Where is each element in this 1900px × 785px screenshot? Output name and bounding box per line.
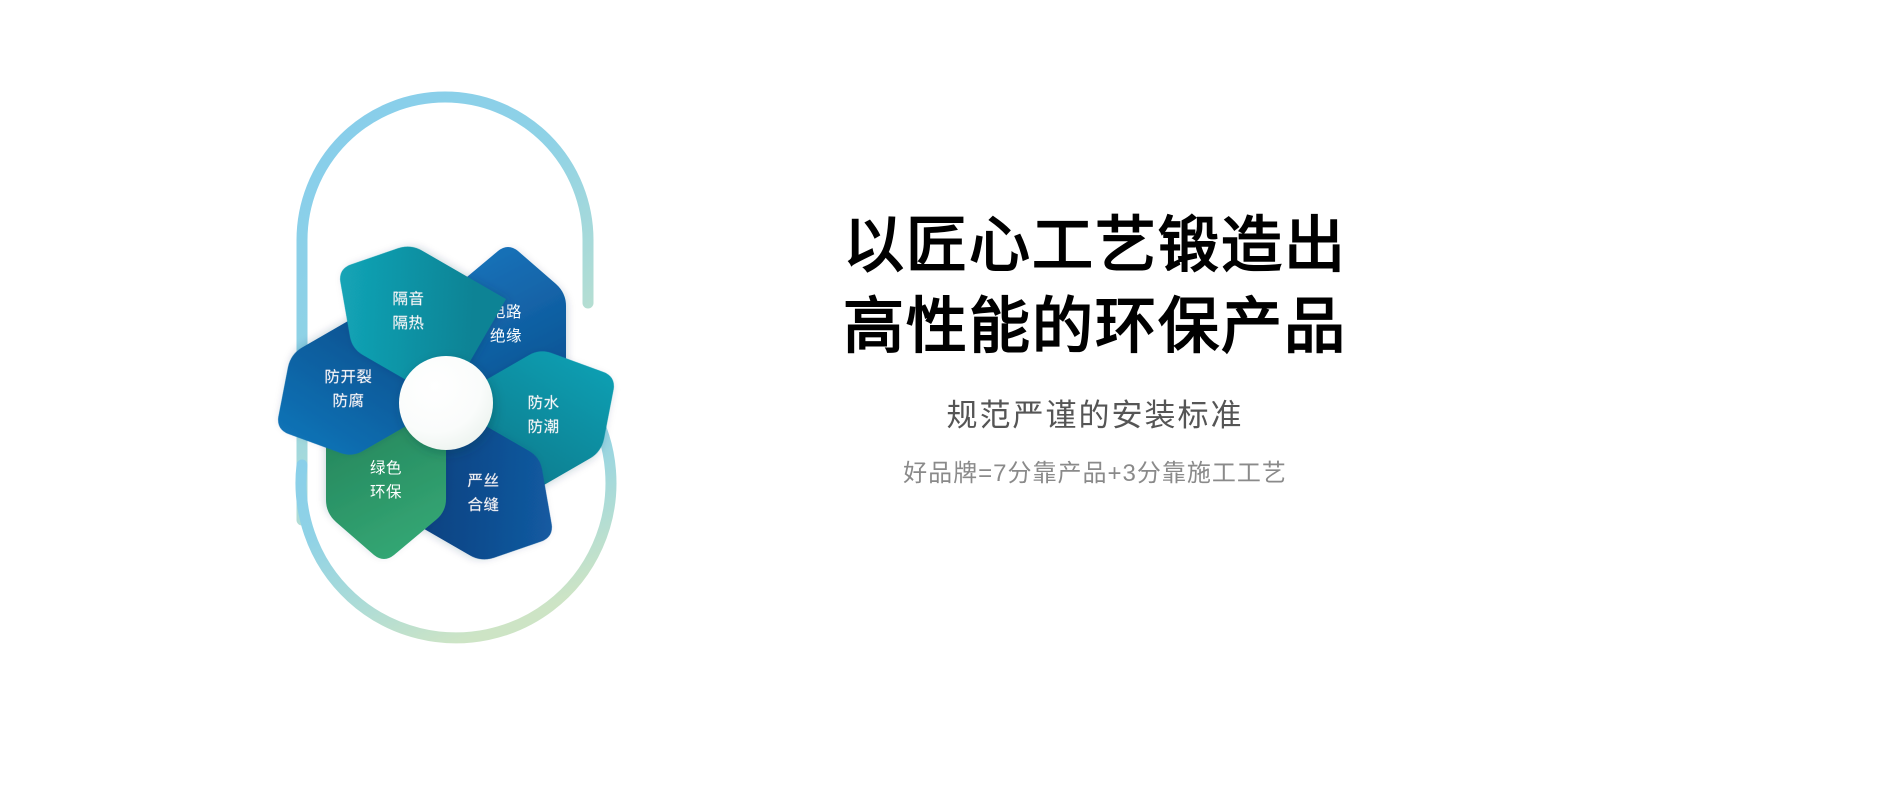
headline-line-2: 高性能的环保产品 bbox=[745, 286, 1445, 367]
petal-label-line1: 防水 bbox=[528, 394, 560, 412]
petal-label-line2: 绝缘 bbox=[490, 327, 522, 345]
petal-label-line1: 隔音 bbox=[392, 290, 424, 308]
copy-block: 以匠心工艺锻造出 高性能的环保产品 规范严谨的安装标准 好品牌=7分靠产品+3分… bbox=[745, 205, 1445, 490]
petal-label-line1: 严丝 bbox=[468, 472, 500, 490]
petal-label-line2: 合缝 bbox=[468, 496, 500, 514]
tagline: 好品牌=7分靠产品+3分靠施工工艺 bbox=[745, 458, 1445, 489]
flower-center-circle bbox=[399, 356, 493, 450]
petal-label-line2: 防潮 bbox=[528, 418, 560, 436]
petal-label-line1: 绿色 bbox=[370, 459, 402, 477]
headline: 以匠心工艺锻造出 高性能的环保产品 bbox=[745, 205, 1445, 366]
headline-line-1: 以匠心工艺锻造出 bbox=[745, 205, 1445, 286]
petal-label-line2: 环保 bbox=[370, 483, 402, 501]
petal-label-line2: 隔热 bbox=[392, 314, 424, 332]
petal-label-line2: 防腐 bbox=[332, 392, 364, 410]
banner-canvas: 电路 绝缘 防水 防潮 严丝 合缝 bbox=[0, 0, 1900, 785]
petal-label-line1: 防开裂 bbox=[324, 368, 372, 386]
six-petal-flower-diagram: 电路 绝缘 防水 防潮 严丝 合缝 bbox=[250, 45, 670, 645]
subheadline: 规范严谨的安装标准 bbox=[745, 396, 1445, 436]
